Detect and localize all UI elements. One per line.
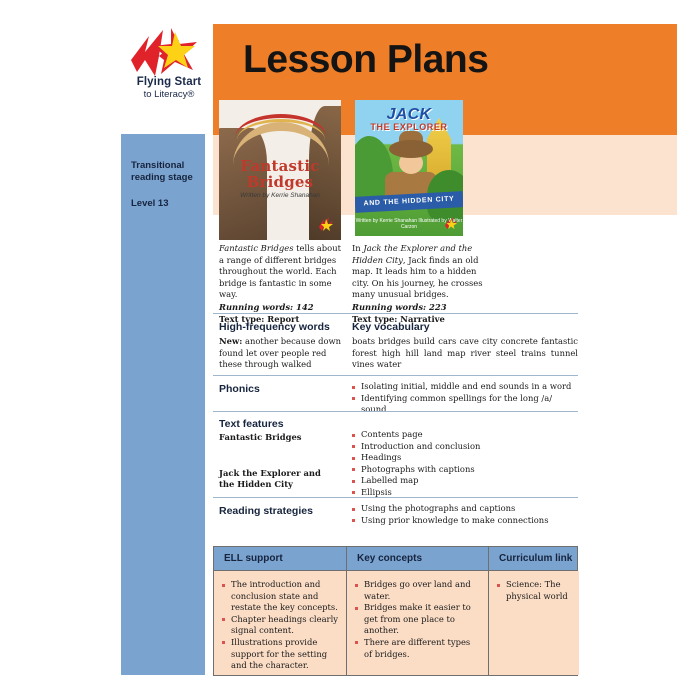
brand-name: Flying Start: [121, 76, 217, 88]
sidebar-level: Level 13: [131, 198, 203, 209]
section-heading-phonics: Phonics: [219, 383, 260, 395]
table-cell-key-concepts: Bridges go over land and water. Bridges …: [346, 571, 488, 675]
section-heading-reading-strategies: Reading strategies: [219, 505, 313, 517]
curriculum-link-list: Science: The physical world: [497, 579, 572, 602]
list-item: Contents page: [352, 429, 578, 441]
list-item: Bridges go over land and water.: [355, 579, 481, 602]
list-item: Bridges make it easier to get from one p…: [355, 602, 481, 637]
lesson-plan-page: Flying Start to Literacy® Lesson Plans T…: [0, 0, 700, 700]
brand-tagline: to Literacy®: [121, 89, 217, 100]
sidebar: [121, 134, 205, 675]
explorer-hat-brim-illustration: [389, 140, 433, 158]
support-table: ELL support Key concepts Curriculum link…: [213, 546, 578, 676]
text-features-list: Contents page Introduction and conclusio…: [352, 429, 578, 499]
table-cell-ell-support: The introduction and conclusion state an…: [214, 571, 346, 675]
publisher-logo-icon: [444, 216, 458, 230]
publisher-logo-icon: [318, 216, 334, 232]
section-heading-high-frequency: High-frequency words: [219, 321, 330, 333]
section-divider: [213, 313, 578, 314]
list-item: Illustrations provide support for the se…: [222, 637, 339, 672]
list-item: Using prior knowledge to make connection…: [352, 515, 578, 527]
ell-support-list: The introduction and conclusion state an…: [222, 579, 339, 672]
running-words: Running words: 142: [219, 302, 345, 314]
running-words: Running words: 223: [352, 302, 486, 314]
text-features-book-1: Fantastic Bridges: [219, 432, 339, 443]
summary-book-title: Fantastic Bridges: [219, 243, 294, 253]
list-item: The introduction and conclusion state an…: [222, 579, 339, 614]
text-features-book-2: Jack the Explorer and the Hidden City: [219, 468, 331, 490]
list-item: Introduction and conclusion: [352, 441, 578, 453]
table-cell-curriculum-link: Science: The physical world: [488, 571, 579, 675]
list-item: Using the photographs and captions: [352, 503, 578, 515]
column-header-curriculum-link: Curriculum link: [488, 547, 579, 571]
list-item: Headings: [352, 452, 578, 464]
book-cover-jack-the-explorer: JACK THE EXPLORER AND THE HIDDEN CITY Wr…: [355, 100, 463, 236]
page-title: Lesson Plans: [243, 38, 488, 82]
list-item: Identifying common spellings for the lon…: [352, 393, 578, 416]
star-burst-icon: [129, 26, 207, 78]
summary-prefix: In: [352, 243, 363, 253]
sidebar-reading-stage: Transitional reading stage: [131, 160, 203, 184]
section-divider: [213, 411, 578, 412]
brand-logo: Flying Start to Literacy®: [121, 26, 217, 104]
cover-title: Fantastic Bridges: [219, 158, 341, 190]
high-frequency-words: New: another because down found let over…: [219, 336, 345, 371]
list-item: Chapter headings clearly signal content.: [222, 614, 339, 637]
key-vocabulary-list: boats bridges build cars cave city concr…: [352, 336, 578, 371]
key-concepts-list: Bridges go over land and water. Bridges …: [355, 579, 481, 660]
list-item: There are different types of bridges.: [355, 637, 481, 660]
column-header-key-concepts: Key concepts: [346, 547, 488, 571]
list-item: Isolating initial, middle and end sounds…: [352, 381, 578, 393]
cover-author: Written by Kerrie Shanahan: [219, 192, 341, 199]
section-heading-text-features: Text features: [219, 418, 284, 430]
high-frequency-label: New:: [219, 336, 242, 346]
section-divider: [213, 497, 578, 498]
cover-title-line-2: THE EXPLORER: [355, 122, 463, 132]
reading-strategies-list: Using the photographs and captions Using…: [352, 503, 578, 526]
list-item: Photographs with captions: [352, 464, 578, 476]
section-heading-key-vocabulary: Key vocabulary: [352, 321, 430, 333]
list-item: Labelled map: [352, 475, 578, 487]
list-item: Science: The physical world: [497, 579, 572, 602]
book-cover-fantastic-bridges: Fantastic Bridges Written by Kerrie Shan…: [219, 100, 341, 240]
section-divider: [213, 375, 578, 376]
column-header-ell-support: ELL support: [214, 547, 346, 571]
